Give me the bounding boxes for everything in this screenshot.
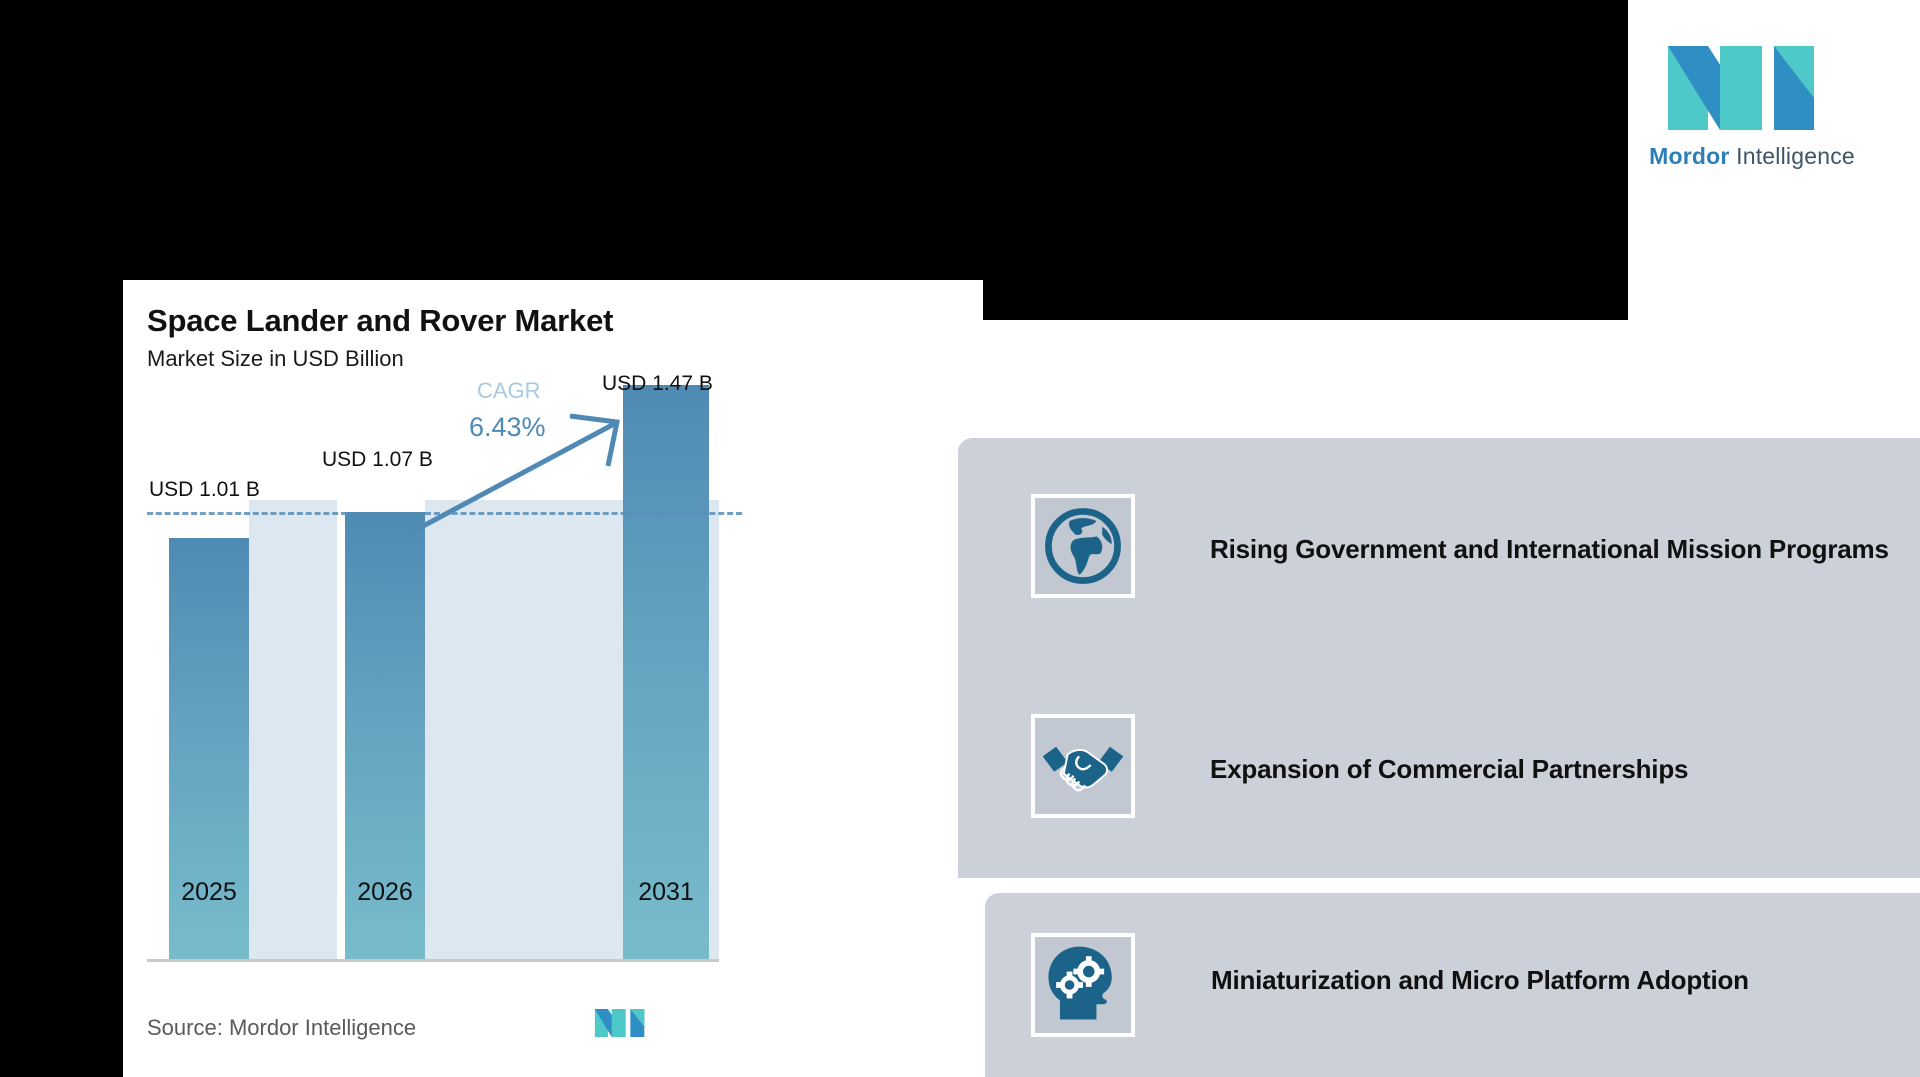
head-gears-icon <box>1035 937 1131 1033</box>
driver-card-3[interactable]: Miniaturization and Micro Platform Adopt… <box>985 893 1920 1077</box>
globe-icon <box>1035 498 1131 594</box>
handshake-icon-frame <box>1031 714 1135 818</box>
driver-card-2-title: Expansion of Commercial Partnerships <box>1210 754 1688 785</box>
market-drivers-list: Rising Government and International Miss… <box>0 0 1920 1077</box>
driver-card-3-title: Miniaturization and Micro Platform Adopt… <box>1211 965 1749 996</box>
driver-card-1[interactable]: Rising Government and International Miss… <box>958 438 1920 658</box>
driver-card-2[interactable]: Expansion of Commercial Partnerships <box>958 658 1920 878</box>
handshake-icon <box>1035 718 1131 814</box>
driver-card-1-title: Rising Government and International Miss… <box>1210 534 1889 565</box>
head-gears-icon-frame <box>1031 933 1135 1037</box>
globe-icon-frame <box>1031 494 1135 598</box>
